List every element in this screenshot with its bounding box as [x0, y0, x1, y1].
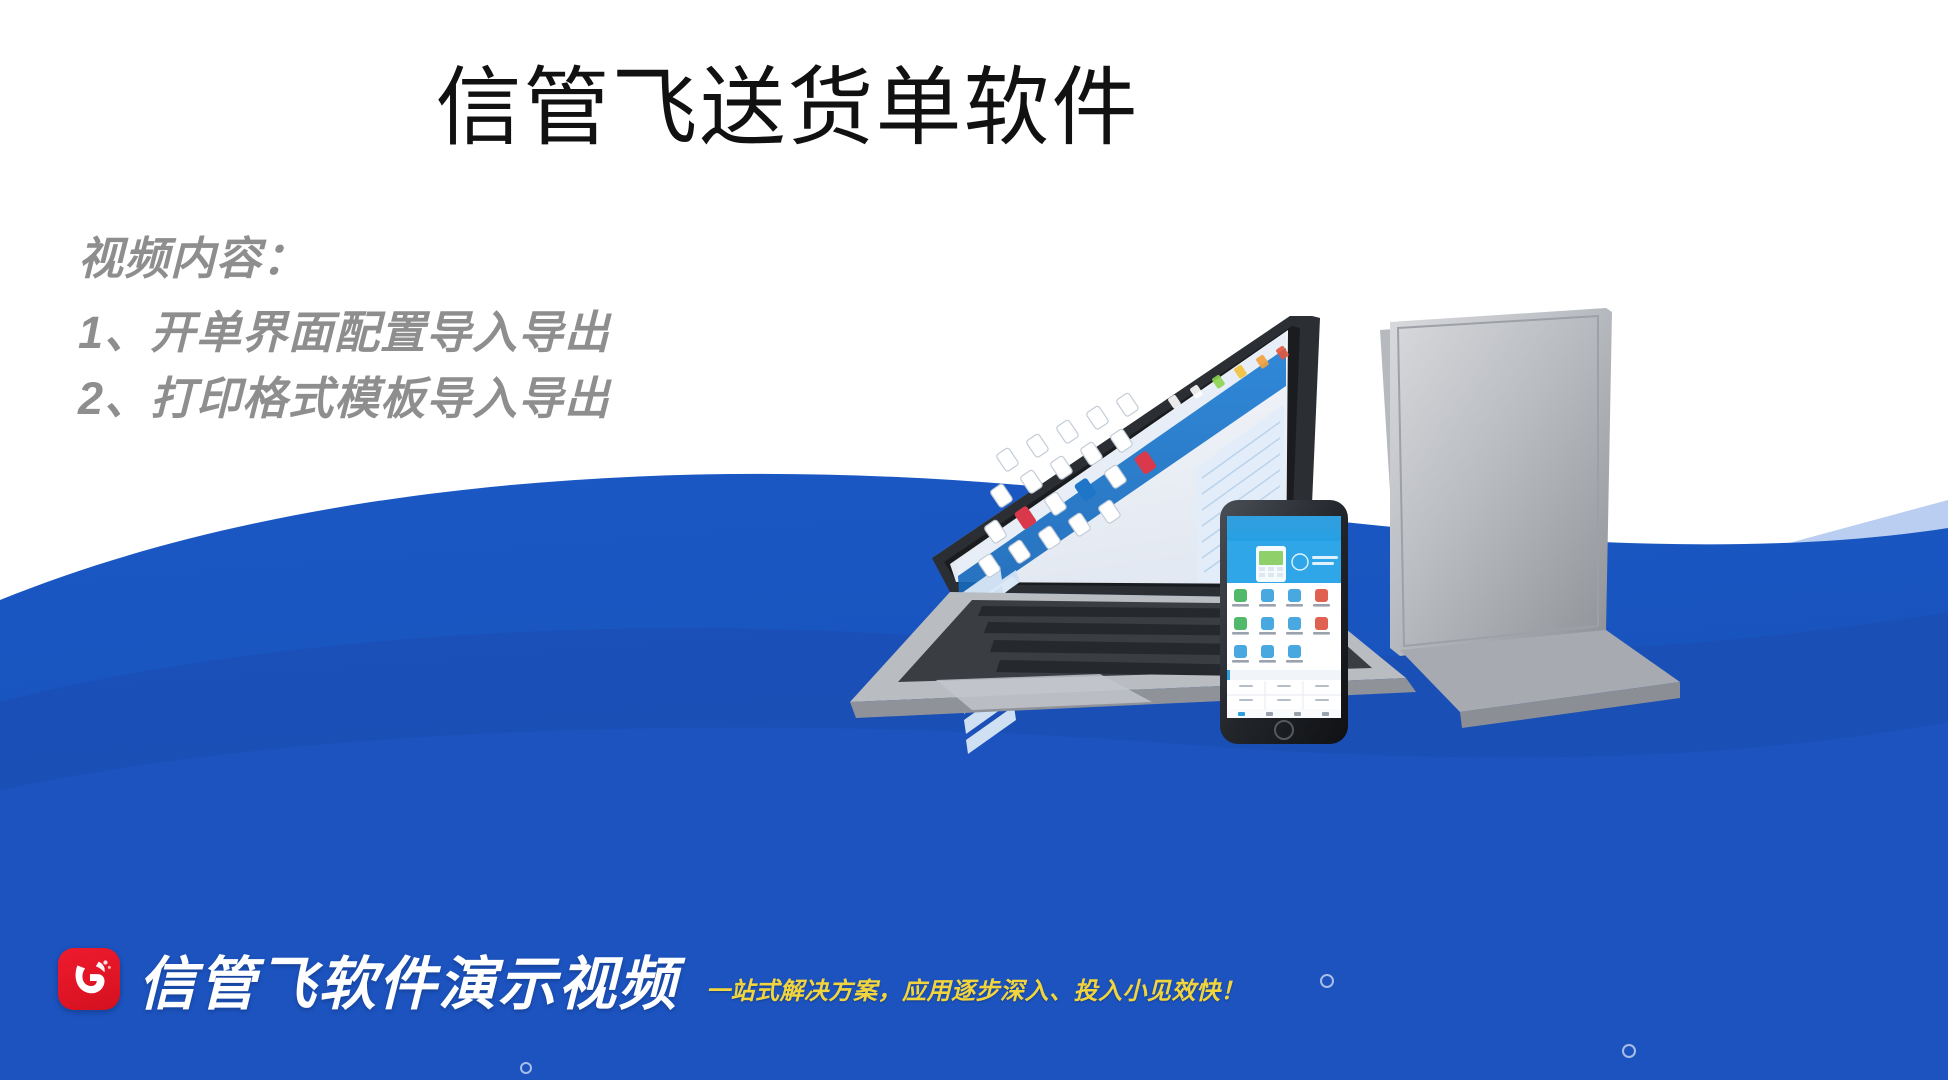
xinguanfei-bird-logo-icon	[58, 948, 120, 1010]
smartphone	[1220, 500, 1348, 744]
decor-dot-1	[1320, 974, 1334, 988]
laptop-closed	[1380, 308, 1680, 728]
content-heading: 视频内容：	[78, 228, 838, 290]
presentation-slide: 信管飞送货单软件 视频内容： 1、开单界面配置导入导出 2、打印格式模板导入导出	[0, 0, 1948, 1080]
slide-title: 信管飞送货单软件	[0, 62, 1575, 155]
decor-dot-2	[1622, 1044, 1636, 1058]
brand-tagline: 一站式解决方案，应用逐步深入、投入小见效快！	[706, 980, 1245, 1004]
brand-name: 信管飞软件演示视频	[138, 956, 678, 1014]
footer-branding: 信管飞软件演示视频 一站式解决方案，应用逐步深入、投入小见效快！	[58, 948, 1245, 1016]
decor-dot-3	[520, 1062, 532, 1074]
device-photo-group	[700, 300, 1948, 1000]
